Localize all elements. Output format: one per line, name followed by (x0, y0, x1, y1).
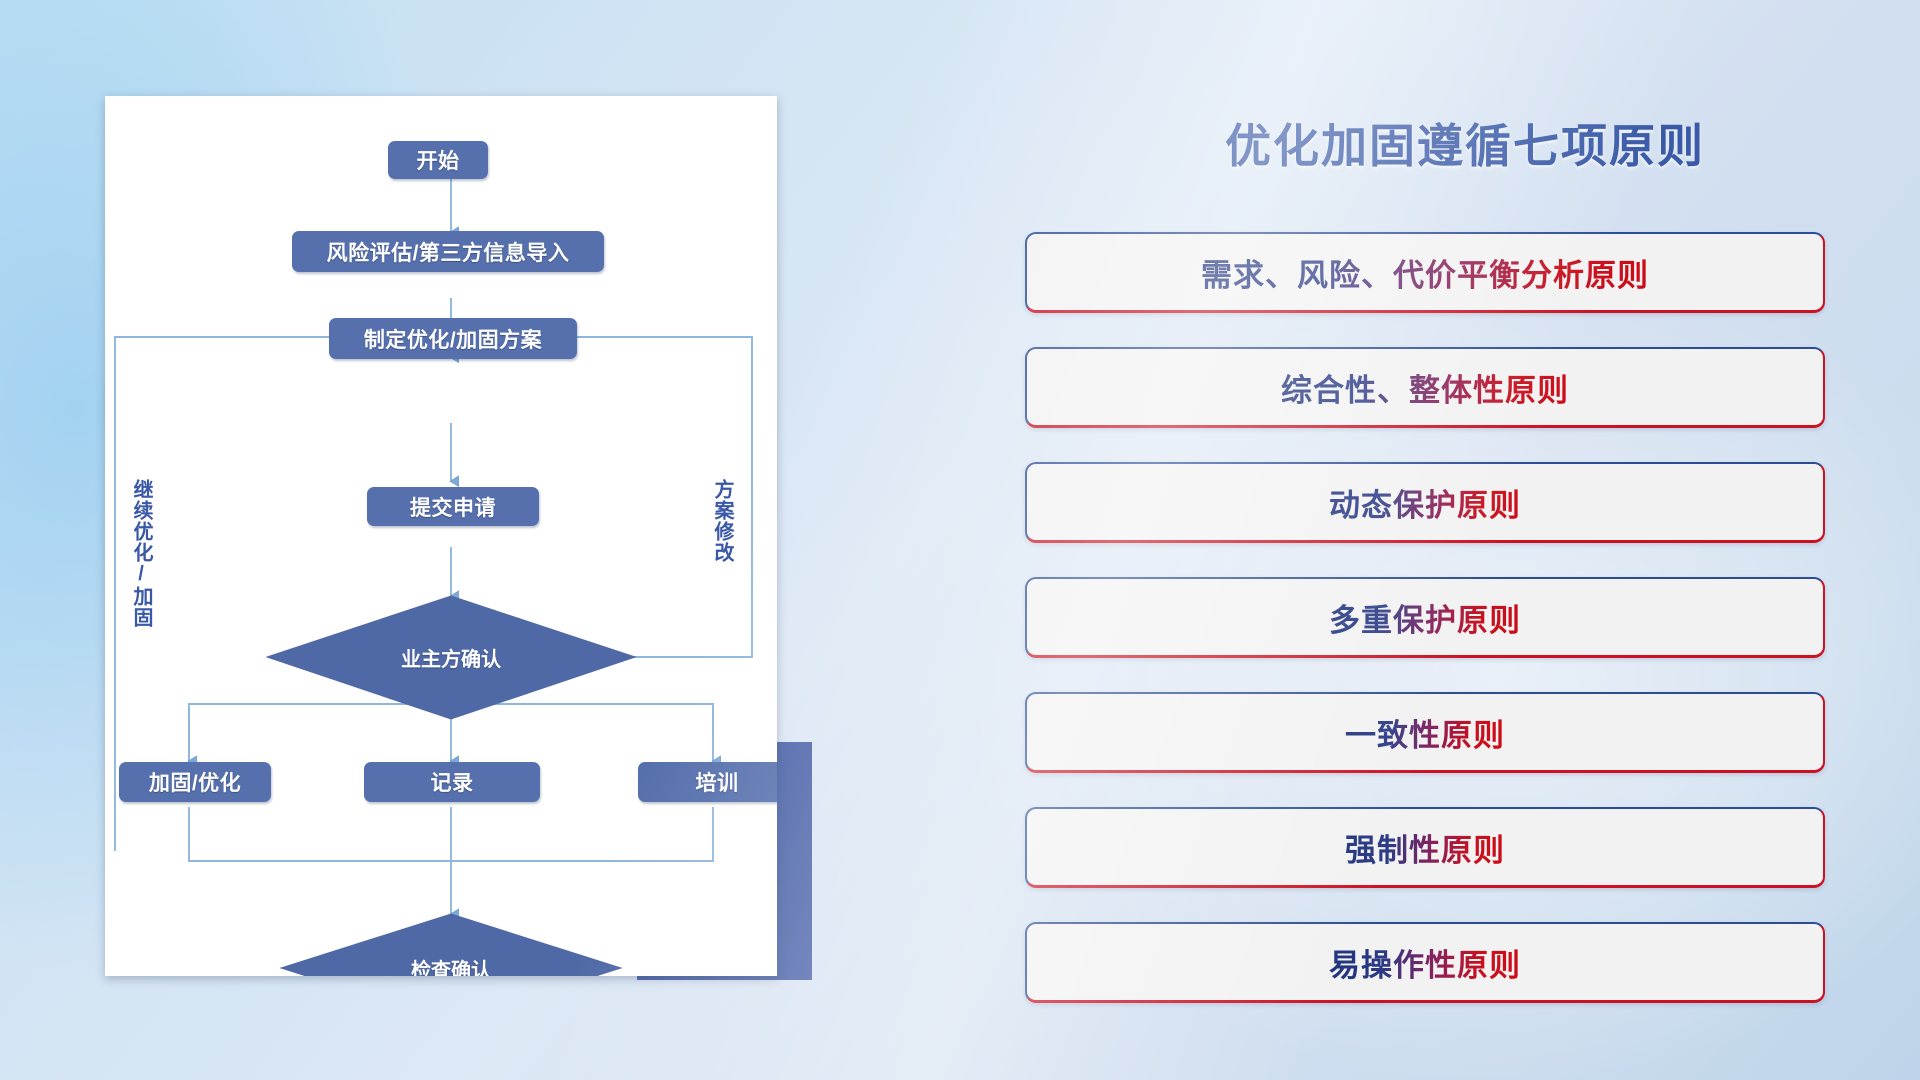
node-submit-application[interactable]: 提交申请 (367, 487, 539, 526)
node-reinforce-optimize-label: 加固/优化 (149, 767, 241, 797)
principle-label-1: 需求、风险、代价平衡分析原则 (1201, 250, 1649, 295)
node-record-label: 记录 (431, 767, 474, 797)
node-start[interactable]: 开始 (388, 141, 488, 179)
node-plan-label: 制定优化/加固方案 (364, 324, 542, 354)
node-inspection-label-wrap: 检查确认 (351, 954, 551, 976)
node-start-label: 开始 (417, 145, 460, 175)
node-risk-assessment[interactable]: 风险评估/第三方信息导入 (292, 231, 604, 272)
node-training[interactable]: 培训 (638, 762, 777, 802)
principle-label-5: 一致性原则 (1345, 710, 1505, 755)
edge-label-plan-revision: 方案修改 (712, 479, 732, 563)
principle-label-6: 强制性原则 (1345, 825, 1505, 870)
flowchart-card: 开始 风险评估/第三方信息导入 制定优化/加固方案 提交申请 业主方确认 加固/… (105, 96, 777, 976)
principle-card-6[interactable]: 强制性原则 (1025, 807, 1825, 888)
principle-label-4: 多重保护原则 (1329, 595, 1521, 640)
principle-label-7: 易操作性原则 (1329, 940, 1521, 985)
principle-card-4[interactable]: 多重保护原则 (1025, 577, 1825, 658)
node-owner-confirm-label: 业主方确认 (401, 643, 501, 672)
node-record[interactable]: 记录 (364, 762, 540, 802)
principle-card-3[interactable]: 动态保护原则 (1025, 462, 1825, 543)
node-reinforce-optimize[interactable]: 加固/优化 (119, 762, 271, 802)
node-inspection-label: 检查确认 (411, 954, 491, 977)
slide-root: 开始 风险评估/第三方信息导入 制定优化/加固方案 提交申请 业主方确认 加固/… (0, 0, 1920, 1080)
node-plan[interactable]: 制定优化/加固方案 (329, 318, 577, 359)
edge-label-continue-optimize: 继续优化/加固 (131, 479, 151, 628)
principle-card-5[interactable]: 一致性原则 (1025, 692, 1825, 773)
principle-label-2: 综合性、整体性原则 (1281, 365, 1569, 410)
principles-list: 需求、风险、代价平衡分析原则 综合性、整体性原则 动态保护原则 多重保护原则 一… (1025, 232, 1825, 1037)
flowchart-connectors (105, 96, 777, 976)
node-submit-application-label: 提交申请 (410, 492, 496, 522)
principle-card-7[interactable]: 易操作性原则 (1025, 922, 1825, 1003)
page-title: 优化加固遵循七项原则 (1155, 110, 1775, 176)
principle-card-2[interactable]: 综合性、整体性原则 (1025, 347, 1825, 428)
principle-card-1[interactable]: 需求、风险、代价平衡分析原则 (1025, 232, 1825, 313)
node-owner-confirm-label-wrap: 业主方确认 (351, 643, 551, 671)
principle-label-3: 动态保护原则 (1329, 480, 1521, 525)
node-risk-assessment-label: 风险评估/第三方信息导入 (327, 237, 570, 267)
node-training-label: 培训 (696, 767, 739, 797)
